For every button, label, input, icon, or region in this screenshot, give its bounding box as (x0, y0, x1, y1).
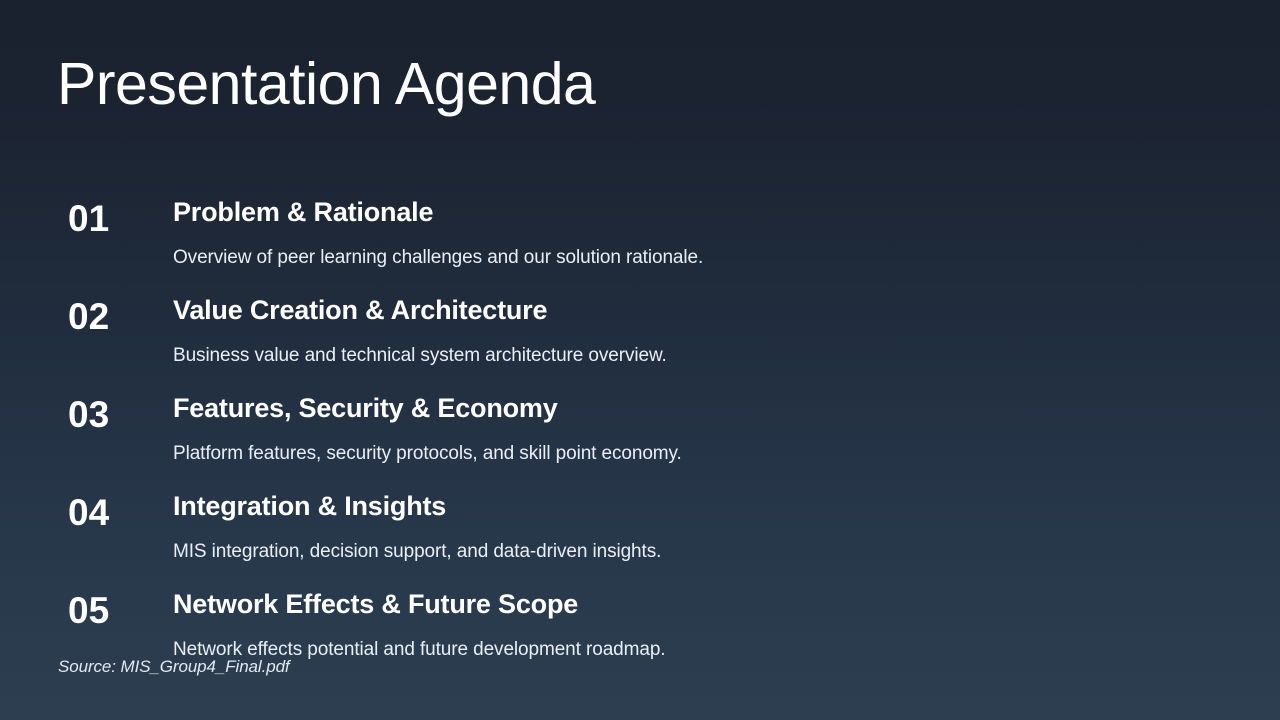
agenda-item-number: 02 (68, 298, 164, 335)
agenda-item-title: Problem & Rationale (173, 196, 1240, 230)
list-item[interactable]: 04 Integration & Insights MIS integratio… (0, 490, 1280, 588)
agenda-item-title: Value Creation & Architecture (173, 294, 1240, 328)
agenda-item-description: Network effects potential and future dev… (173, 638, 1240, 663)
page-title: Presentation Agenda (57, 52, 595, 117)
source-note: Source: MIS_Group4_Final.pdf (58, 657, 290, 677)
list-item[interactable]: 03 Features, Security & Economy Platform… (0, 392, 1280, 490)
agenda-slide: Presentation Agenda 01 Problem & Rationa… (0, 0, 1280, 720)
agenda-item-description: Overview of peer learning challenges and… (173, 246, 1240, 271)
agenda-item-description: MIS integration, decision support, and d… (173, 540, 1240, 565)
agenda-item-number: 05 (68, 592, 164, 629)
list-item[interactable]: 01 Problem & Rationale Overview of peer … (0, 196, 1280, 294)
agenda-item-description: Platform features, security protocols, a… (173, 442, 1240, 467)
agenda-item-description: Business value and technical system arch… (173, 344, 1240, 369)
agenda-item-title: Features, Security & Economy (173, 392, 1240, 426)
agenda-item-body: Integration & Insights MIS integration, … (173, 490, 1240, 564)
agenda-item-number: 03 (68, 396, 164, 433)
agenda-item-title: Integration & Insights (173, 490, 1240, 524)
agenda-item-body: Network Effects & Future Scope Network e… (173, 588, 1240, 662)
agenda-item-number: 04 (68, 494, 164, 531)
agenda-item-body: Problem & Rationale Overview of peer lea… (173, 196, 1240, 270)
agenda-item-title: Network Effects & Future Scope (173, 588, 1240, 622)
agenda-item-body: Value Creation & Architecture Business v… (173, 294, 1240, 368)
agenda-list: 01 Problem & Rationale Overview of peer … (0, 196, 1280, 686)
agenda-item-number: 01 (68, 200, 164, 237)
agenda-item-body: Features, Security & Economy Platform fe… (173, 392, 1240, 466)
list-item[interactable]: 02 Value Creation & Architecture Busines… (0, 294, 1280, 392)
